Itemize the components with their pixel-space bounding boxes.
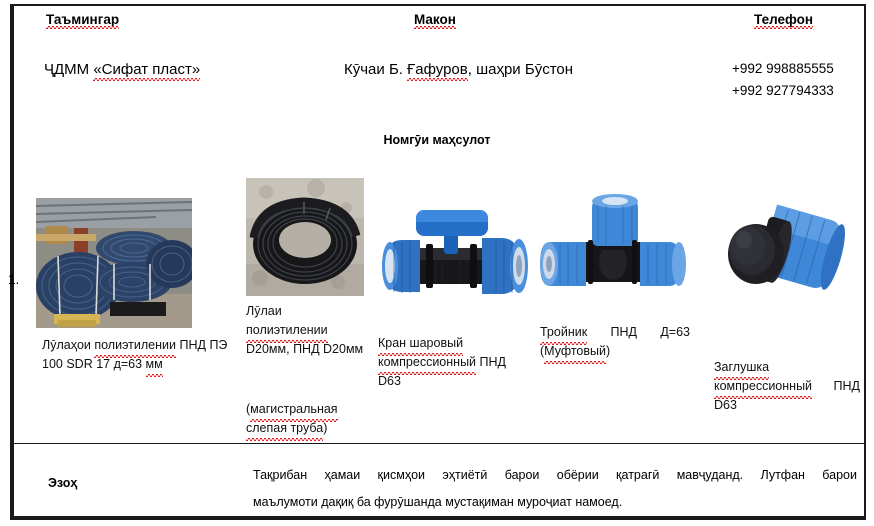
- product-cell-3: Кран шаровый компрессионный ПНД D63: [378, 196, 528, 329]
- compression-tee-fitting-photo: [540, 190, 686, 320]
- caption-3-word1-spellchecked: Кран шаровый: [378, 334, 463, 353]
- caption-1-unit-spellchecked: мм: [146, 355, 163, 374]
- caption-4-word1-spellchecked: Тройник: [540, 323, 587, 342]
- product-caption-5: Заглушка компрессионный ПНД D63: [714, 358, 862, 415]
- note-line-1: Тақрибан ҳамаи қисмҳои эҳтиётӣ барои обё…: [253, 462, 857, 489]
- header-supplier-label: Таъмингар: [46, 12, 119, 27]
- product-cell-4: Тройник ПНД Д=63 (Муфтовый): [540, 190, 686, 325]
- caption-5-word1-spellchecked: Заглушка: [714, 358, 769, 377]
- header-place: Макон: [414, 12, 456, 27]
- document-page: Таъмингар Макон Телефон ҶДММ «Сифат плас…: [0, 0, 874, 526]
- header-supplier: Таъмингар: [46, 12, 119, 27]
- company-address: Кӯчаи Б. Ғафуров, шаҳри Бӯстон: [344, 61, 573, 78]
- caption-2b-word1-spellchecked: магистральная: [250, 400, 337, 419]
- note-row-divider: [14, 443, 864, 444]
- product-caption-4: Тройник ПНД Д=63 (Муфтовый): [540, 323, 692, 361]
- product-caption-2b: (магистральная слепая труба): [246, 400, 364, 438]
- caption-2-spellchecked: полиэтилении: [246, 321, 328, 340]
- caption-5-line1: Заглушка: [714, 360, 769, 374]
- note-line-2: маълумоти дақиқ ба фурӯшанда мустақиман …: [253, 489, 857, 516]
- caption-4-line2: (Муфтовый): [540, 344, 610, 358]
- caption-4-word3: Д=63: [660, 323, 690, 342]
- caption-5-line3: D63: [714, 398, 737, 412]
- table-bottom-border: [10, 516, 866, 520]
- black-pipe-coil-photo: [246, 178, 364, 296]
- compression-end-cap-photo: [714, 196, 854, 308]
- header-phone-label: Телефон: [754, 12, 813, 27]
- table-left-border: [10, 4, 14, 518]
- product-caption-3: Кран шаровый компрессионный ПНД D63: [378, 334, 523, 391]
- header-place-label: Макон: [414, 12, 456, 27]
- phone-number-2: +992 927794333: [732, 80, 834, 102]
- section-title: Номгӯи маҳсулот: [0, 133, 874, 147]
- row-number: 1.: [8, 272, 19, 287]
- caption-3-word2-spellchecked: компрессионный: [378, 353, 476, 372]
- caption-5-line2: компрессионный ПНД: [714, 377, 860, 396]
- caption-4-muftovy-spellchecked: Муфтовый: [544, 342, 606, 361]
- caption-4-line1: Тройник ПНД Д=63: [540, 323, 690, 342]
- product-cell-2: Лӯлаи полиэтилении D20мм, ПНД D20мм (маг…: [246, 178, 364, 301]
- product-caption-1: Лӯлаҳои полиэтилении ПНД ПЭ 100 SDR 17 д…: [42, 336, 232, 374]
- company-phones: +992 998885555 +992 927794333: [732, 58, 834, 102]
- blue-ball-valve-photo: [378, 196, 528, 324]
- phone-number-1: +992 998885555: [732, 58, 834, 80]
- note-label: Эзоҳ: [48, 476, 77, 490]
- caption-2b-word2-spellchecked: слепая труба: [246, 419, 323, 438]
- caption-5-word3: ПНД: [834, 377, 860, 396]
- note-text: Тақрибан ҳамаи қисмҳои эҳтиётӣ барои обё…: [253, 462, 857, 516]
- product-cell-1: Лӯлаҳои полиэтилении ПНД ПЭ 100 SDR 17 д…: [36, 198, 192, 333]
- product-caption-2: Лӯлаи полиэтилении D20мм, ПНД D20мм: [246, 302, 364, 359]
- table-right-border: [864, 4, 866, 518]
- product-cell-5: Заглушка компрессионный ПНД D63: [714, 196, 854, 313]
- address-city-spellchecked: Ғафуров: [407, 61, 468, 78]
- header-phone: Телефон: [754, 12, 813, 27]
- company-name: ҶДММ «Сифат пласт»: [44, 61, 200, 78]
- caption-4-word2: ПНД: [611, 323, 637, 342]
- company-name-spellchecked: «Сифат пласт»: [93, 61, 200, 78]
- table-header-row: Таъмингар Макон Телефон: [14, 8, 864, 44]
- coiled-hdpe-pipes-photo: [36, 198, 192, 328]
- caption-5-word2-spellchecked: компрессионный: [714, 377, 812, 396]
- caption-1-spellchecked: полиэтилении: [94, 336, 176, 355]
- table-top-border: [10, 4, 866, 6]
